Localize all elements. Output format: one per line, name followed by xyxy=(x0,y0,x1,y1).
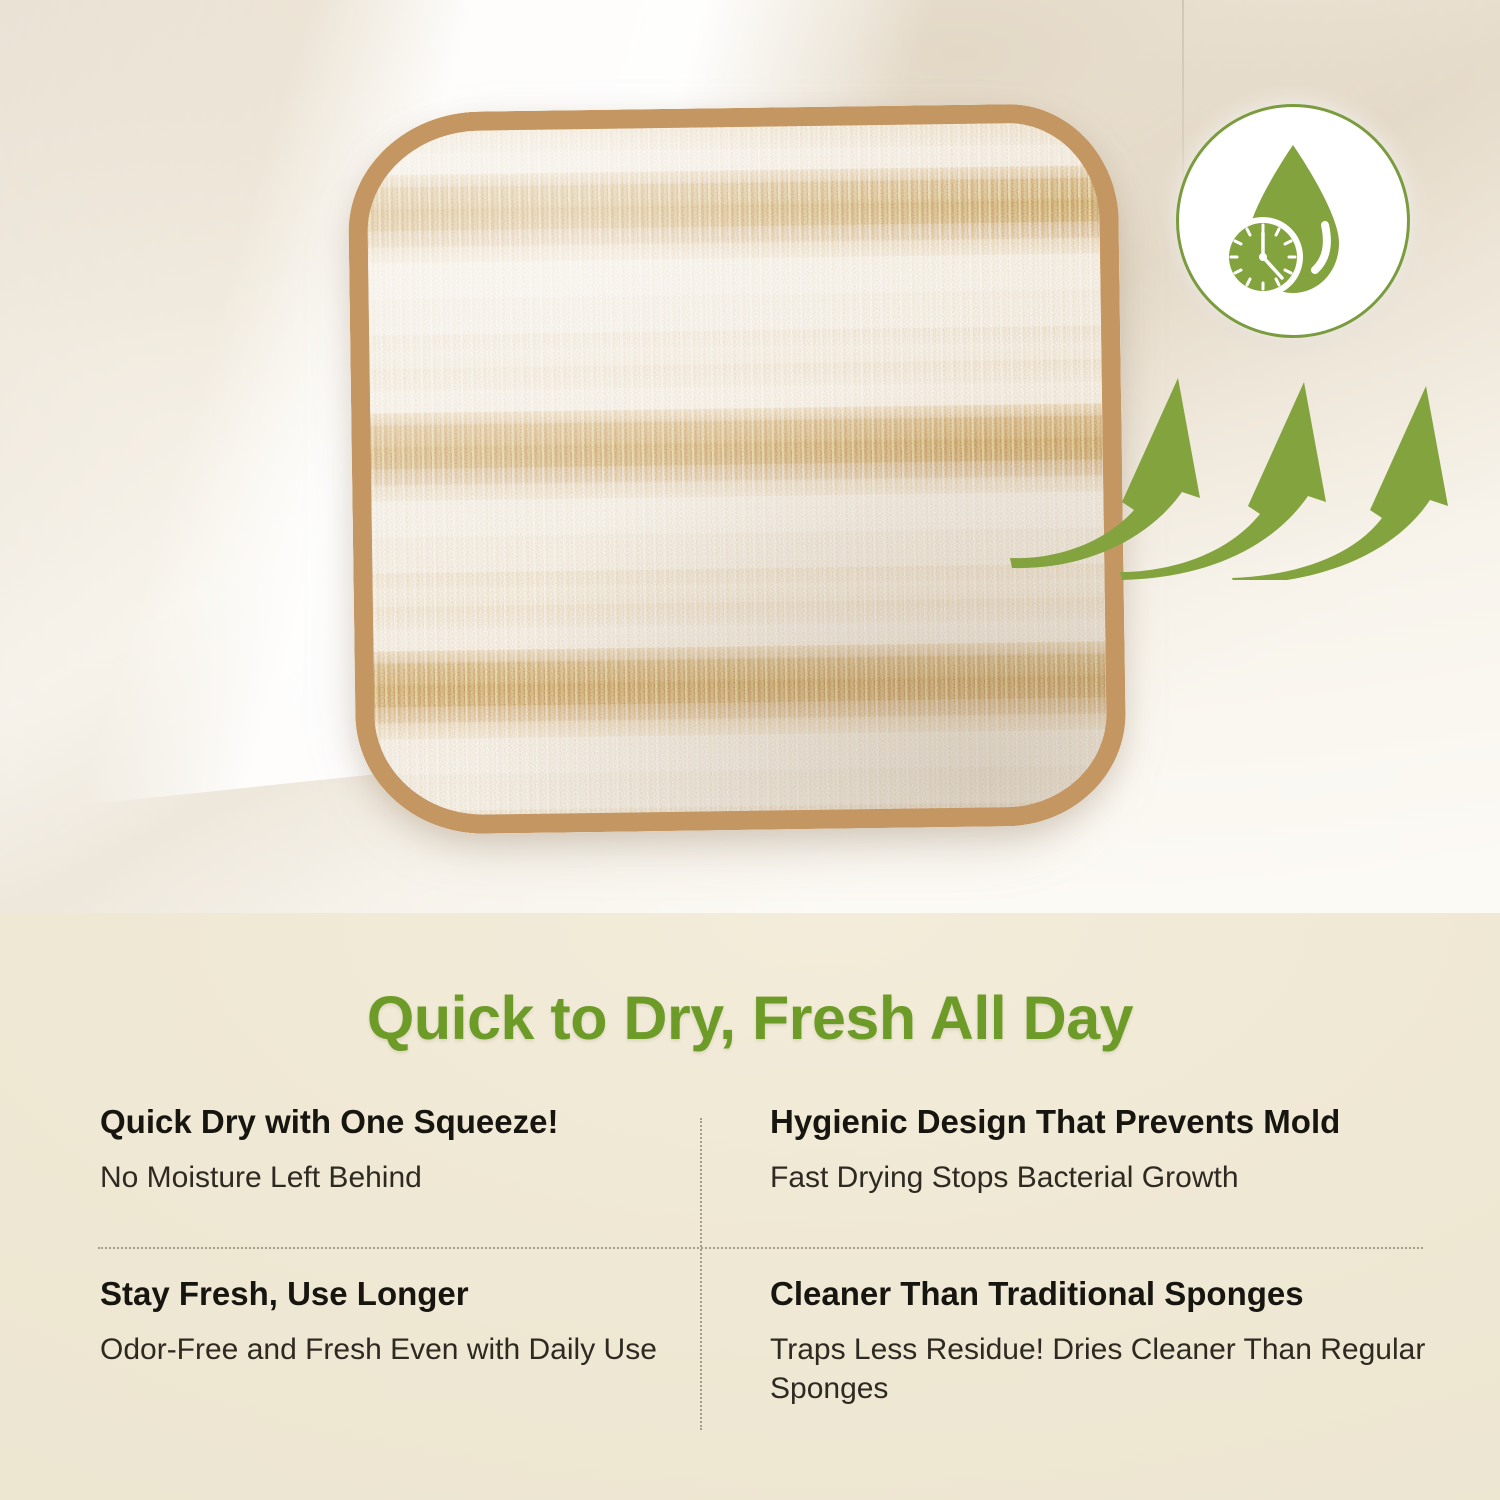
feature-subtitle: No Moisture Left Behind xyxy=(100,1158,700,1197)
airflow-arrow-1 xyxy=(1010,378,1200,568)
feature-title: Hygienic Design That Prevents Mold xyxy=(770,1103,1430,1142)
feature-item-3: Cleaner Than Traditional Sponges Traps L… xyxy=(770,1275,1430,1408)
product-image xyxy=(352,108,1122,830)
features-grid: Quick Dry with One Squeeze! No Moisture … xyxy=(100,1103,1430,1453)
page-title: Quick to Dry, Fresh All Day xyxy=(0,983,1500,1053)
feature-title: Quick Dry with One Squeeze! xyxy=(100,1103,700,1142)
product-marketing-image: Quick to Dry, Fresh All Day Quick Dry wi… xyxy=(0,0,1500,1500)
feature-subtitle: Traps Less Residue! Dries Cleaner Than R… xyxy=(770,1330,1430,1408)
airflow-arrows xyxy=(1010,370,1450,580)
feature-item-0: Quick Dry with One Squeeze! No Moisture … xyxy=(100,1103,700,1197)
quick-dry-badge xyxy=(1176,104,1410,338)
clock-icon xyxy=(1223,217,1303,297)
feature-title: Stay Fresh, Use Longer xyxy=(100,1275,700,1314)
features-panel: Quick to Dry, Fresh All Day Quick Dry wi… xyxy=(0,913,1500,1500)
feature-item-1: Hygienic Design That Prevents Mold Fast … xyxy=(770,1103,1430,1197)
feature-divider-vertical xyxy=(700,1118,702,1430)
feature-subtitle: Fast Drying Stops Bacterial Growth xyxy=(770,1158,1430,1197)
feature-item-2: Stay Fresh, Use Longer Odor-Free and Fre… xyxy=(100,1275,700,1369)
feature-divider-horizontal xyxy=(98,1247,1423,1249)
feature-title: Cleaner Than Traditional Sponges xyxy=(770,1275,1430,1314)
feature-subtitle: Odor-Free and Fresh Even with Daily Use xyxy=(100,1330,700,1369)
hero-panel xyxy=(0,0,1500,913)
